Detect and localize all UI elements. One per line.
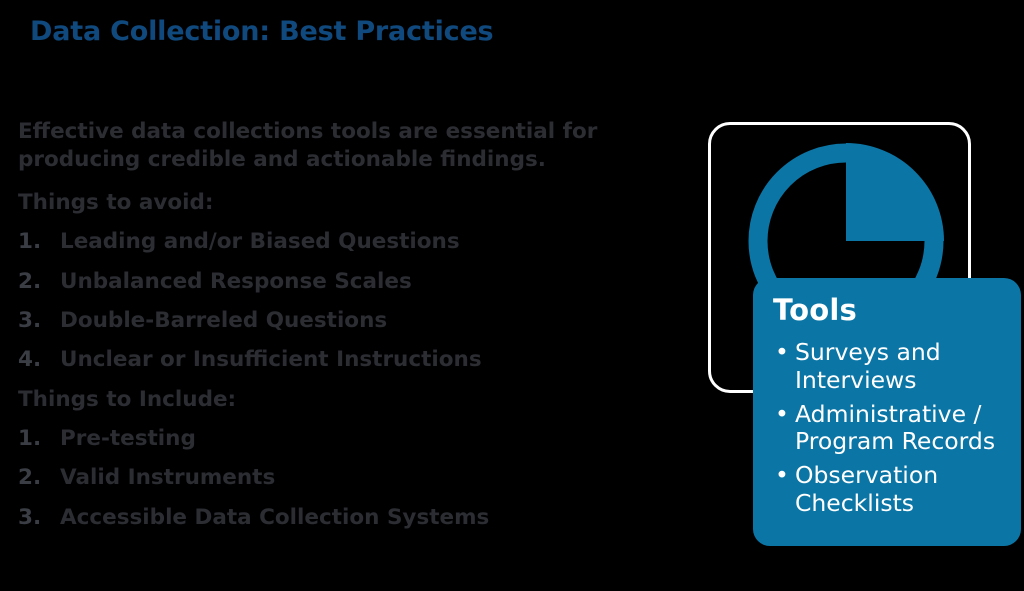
tools-card-list: •Surveys and Interviews •Administrative …: [773, 339, 1003, 517]
page-title: Data Collection: Best Practices: [30, 16, 493, 47]
things-to-avoid-heading: Things to avoid:: [18, 189, 658, 217]
list-item-label: Surveys and Interviews: [795, 338, 941, 393]
list-item-number: 1.: [18, 425, 60, 453]
list-item: 2. Valid Instruments: [18, 464, 658, 492]
list-item-label: Valid Instruments: [60, 464, 275, 492]
list-item-number: 2.: [18, 268, 60, 296]
list-item: •Surveys and Interviews: [773, 339, 1003, 394]
list-item-label: Leading and/or Biased Questions: [60, 228, 460, 256]
intro-paragraph: Effective data collections tools are ess…: [18, 118, 618, 175]
things-to-include-heading: Things to Include:: [18, 386, 658, 414]
list-item-number: 1.: [18, 228, 60, 256]
list-item: •Observation Checklists: [773, 462, 1003, 517]
bullet-icon: •: [775, 401, 789, 428]
tools-card: Tools •Surveys and Interviews •Administr…: [753, 278, 1021, 546]
things-to-include-list: 1. Pre-testing 2. Valid Instruments 3. A…: [18, 425, 658, 532]
list-item-number: 3.: [18, 307, 60, 335]
list-item: 4. Unclear or Insufficient Instructions: [18, 346, 658, 374]
list-item: 1. Leading and/or Biased Questions: [18, 228, 658, 256]
list-item: 3. Double-Barreled Questions: [18, 307, 658, 335]
list-item-number: 2.: [18, 464, 60, 492]
bullet-icon: •: [775, 462, 789, 489]
list-item: •Administrative / Program Records: [773, 401, 1003, 456]
list-item: 2. Unbalanced Response Scales: [18, 268, 658, 296]
list-item: 1. Pre-testing: [18, 425, 658, 453]
list-item-number: 4.: [18, 346, 60, 374]
body-content: Effective data collections tools are ess…: [18, 118, 658, 543]
list-item-label: Accessible Data Collection Systems: [60, 504, 489, 532]
list-item-number: 3.: [18, 504, 60, 532]
bullet-icon: •: [775, 339, 789, 366]
list-item: 3. Accessible Data Collection Systems: [18, 504, 658, 532]
list-item-label: Unbalanced Response Scales: [60, 268, 412, 296]
list-item-label: Administrative / Program Records: [795, 400, 995, 455]
list-item-label: Observation Checklists: [795, 461, 938, 516]
list-item-label: Unclear or Insufficient Instructions: [60, 346, 482, 374]
list-item-label: Double-Barreled Questions: [60, 307, 387, 335]
tools-card-title: Tools: [773, 294, 1003, 327]
tools-graphic: Tools •Surveys and Interviews •Administr…: [690, 110, 1024, 560]
things-to-avoid-list: 1. Leading and/or Biased Questions 2. Un…: [18, 228, 658, 375]
list-item-label: Pre-testing: [60, 425, 196, 453]
